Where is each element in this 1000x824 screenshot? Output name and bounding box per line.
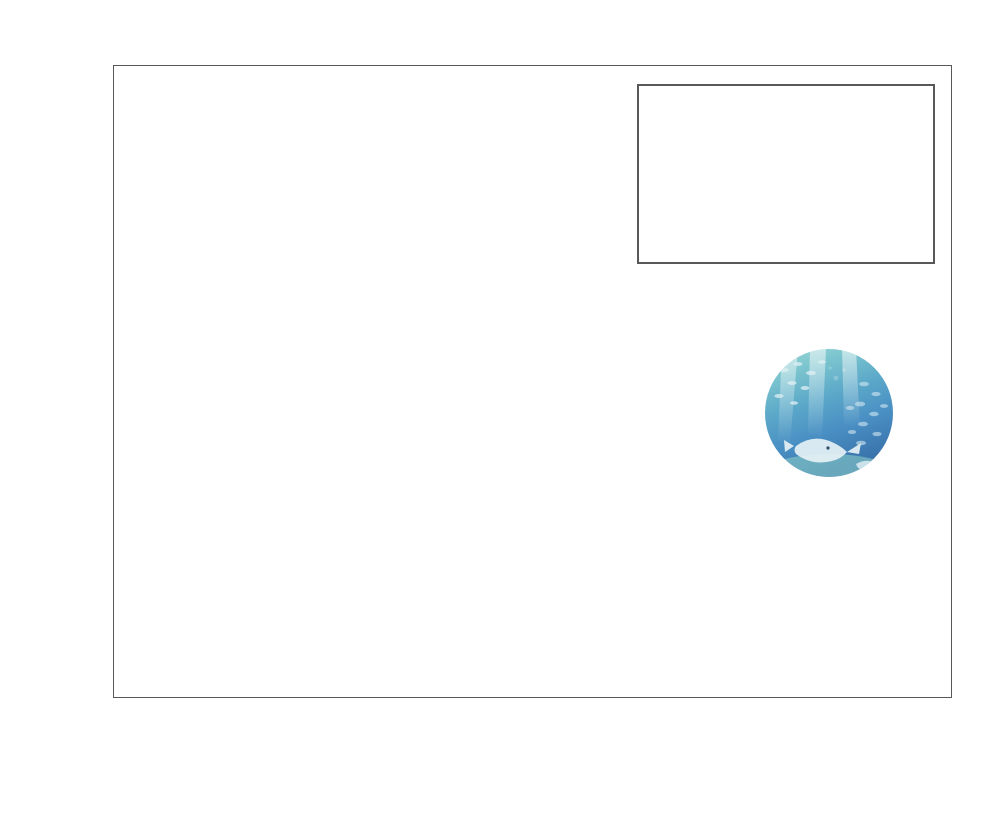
j-scope-logo-icon <box>764 348 894 478</box>
legend-swatch-run2 <box>649 149 723 158</box>
legend-item <box>649 216 923 256</box>
legend-item <box>649 175 923 215</box>
legend-swatch-run1 <box>649 108 723 117</box>
chart-figure <box>0 0 1000 824</box>
legend-item <box>649 134 923 174</box>
legend-swatch-climatology <box>649 231 723 240</box>
legend-item <box>649 93 923 133</box>
chart-legend <box>637 84 935 264</box>
legend-swatch-run3 <box>649 190 723 199</box>
